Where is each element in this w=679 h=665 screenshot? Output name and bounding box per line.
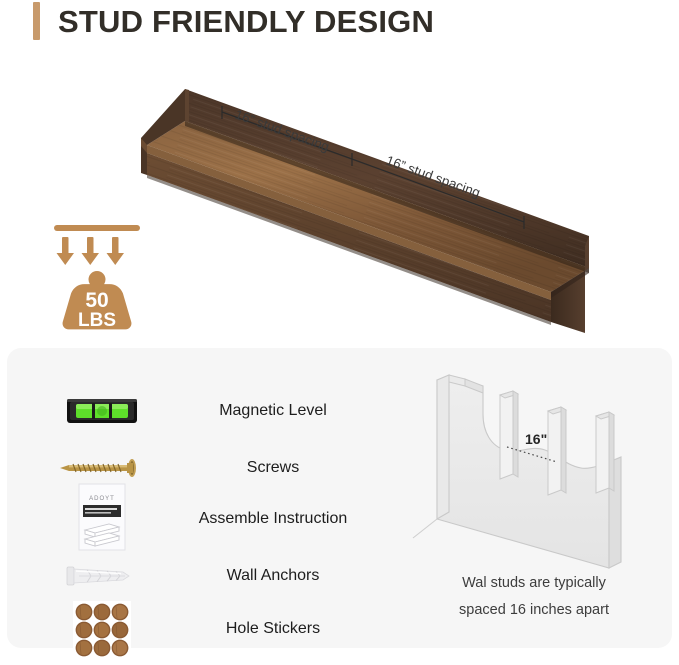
svg-text:ADOYT: ADOYT <box>89 496 115 502</box>
accessory-label: Assemble Instruction <box>159 492 387 546</box>
list-item: Magnetic Level <box>47 384 387 438</box>
weight-value: 50 <box>85 289 108 312</box>
list-item: Wall Anchors <box>47 549 387 603</box>
wall-anchor-icon <box>57 549 147 603</box>
stud-dimension-label: 16" <box>525 431 547 447</box>
page-title: STUD FRIENDLY DESIGN <box>58 0 434 44</box>
magnetic-level-icon <box>57 384 147 438</box>
weight-arrows <box>57 237 125 265</box>
list-item: ADOYT Assemble Instruction <box>47 492 387 546</box>
stud-caption-line-1: Wal studs are typically <box>405 570 663 597</box>
accessory-label: Screws <box>159 441 387 495</box>
title-accent-bar <box>33 2 40 40</box>
instruction-booklet-icon: ADOYT <box>57 482 147 554</box>
accessory-label: Wall Anchors <box>159 549 387 603</box>
hole-stickers-icon <box>57 598 147 660</box>
accessory-label: Hole Stickers <box>159 602 387 656</box>
stud-diagram-caption: Wal studs are typically spaced 16 inches… <box>405 570 663 624</box>
wall-stud <box>596 412 614 493</box>
page-header: STUD FRIENDLY DESIGN <box>0 0 679 52</box>
accessories-panel: Magnetic Level <box>7 348 672 648</box>
weight-unit: LBS <box>78 310 116 331</box>
wall-stud <box>500 391 518 479</box>
stud-caption-line-2: spaced 16 inches apart <box>405 597 663 624</box>
list-item: Hole Stickers <box>47 602 387 656</box>
accessory-label: Magnetic Level <box>159 384 387 438</box>
weight-capacity-icon: 50 LBS <box>42 221 152 333</box>
wall-stud-diagram: 16" <box>405 362 663 584</box>
wall-stud <box>548 407 566 495</box>
weight-support-bar <box>54 225 140 231</box>
